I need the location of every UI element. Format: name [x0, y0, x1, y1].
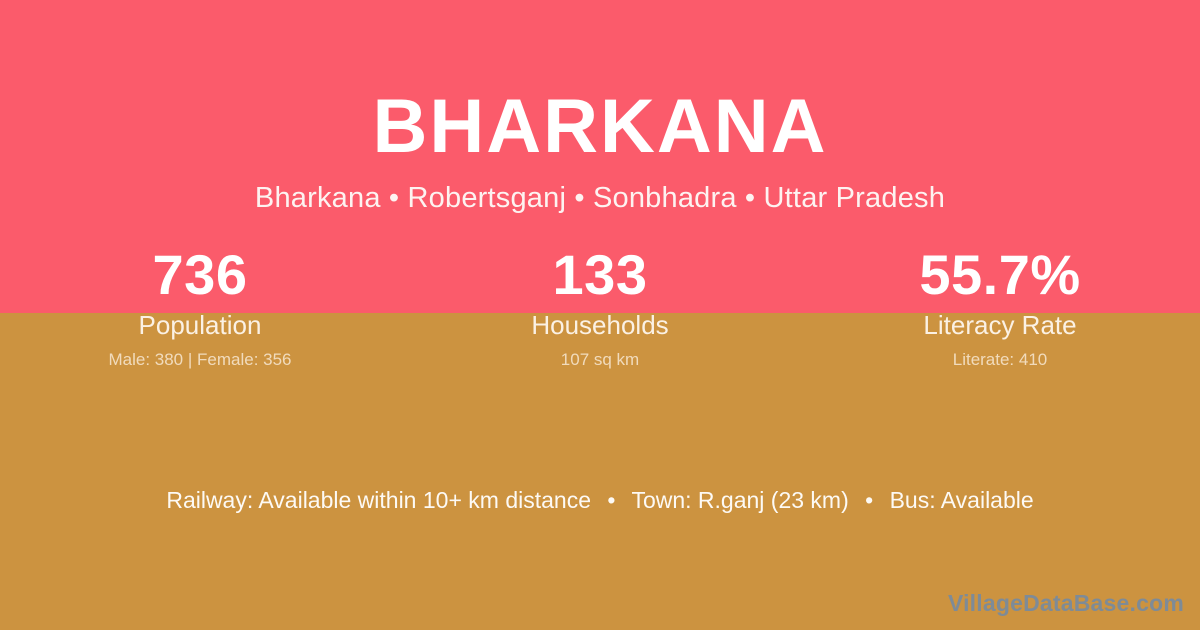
- stat-population-breakdown: Male: 380 | Female: 356: [0, 350, 400, 370]
- stat-population-label: Population: [0, 310, 400, 340]
- village-info-card: BHARKANA Bharkana • Robertsganj • Sonbha…: [0, 0, 1200, 630]
- breadcrumb: Bharkana • Robertsganj • Sonbhadra • Utt…: [0, 170, 1200, 215]
- stat-literacy-value: 55.7%: [800, 244, 1200, 306]
- stat-literacy-count: Literate: 410: [800, 350, 1200, 370]
- header-block: BHARKANA Bharkana • Robertsganj • Sonbha…: [0, 0, 1200, 215]
- stat-households-value: 133: [400, 244, 800, 306]
- stat-households-area: 107 sq km: [400, 350, 800, 370]
- amenities-line: Railway: Available within 10+ km distanc…: [0, 485, 1200, 515]
- stat-literacy-label: Literacy Rate: [800, 310, 1200, 340]
- stat-population-value: 736: [0, 244, 400, 306]
- amenity-separator-icon: •: [597, 485, 625, 515]
- page-title: BHARKANA: [0, 0, 1200, 170]
- amenity-railway: Railway: Available within 10+ km distanc…: [166, 487, 591, 513]
- stat-literacy: 55.7% Literacy Rate Literate: 410: [800, 244, 1200, 370]
- amenity-town: Town: R.ganj (23 km): [631, 487, 848, 513]
- amenity-bus: Bus: Available: [890, 487, 1034, 513]
- amenity-separator-icon: •: [855, 485, 883, 515]
- stats-row: 736 Population Male: 380 | Female: 356 1…: [0, 244, 1200, 370]
- stat-population: 736 Population Male: 380 | Female: 356: [0, 244, 400, 370]
- stat-households-label: Households: [400, 310, 800, 340]
- stat-households: 133 Households 107 sq km: [400, 244, 800, 370]
- site-brand-watermark: VillageDataBase.com: [948, 588, 1184, 618]
